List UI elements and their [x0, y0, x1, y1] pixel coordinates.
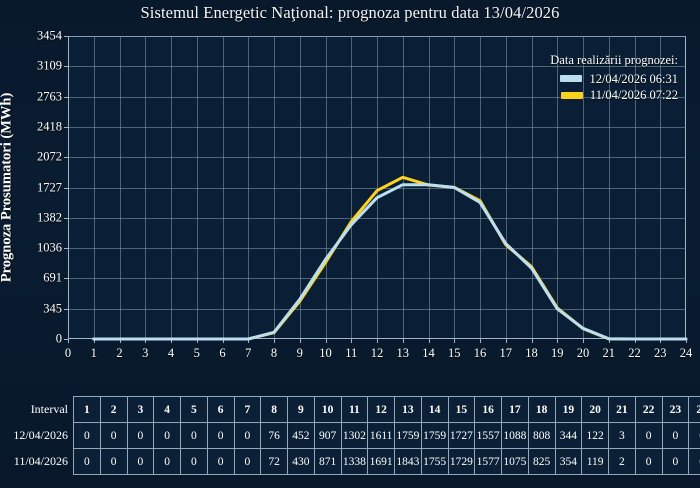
table-cell: 1729	[448, 449, 475, 475]
y-axis-title-text: Prognoza Prosumatori (MWh)	[0, 93, 16, 283]
table-header-cell: 12	[368, 397, 395, 423]
table-cell: 0	[689, 423, 700, 449]
table-header-cell: 4	[154, 397, 181, 423]
table-cell: 1759	[421, 423, 448, 449]
table-cell: 1759	[395, 423, 422, 449]
table-cell: 0	[127, 423, 154, 449]
table-cell: 808	[528, 423, 555, 449]
table-cell: 1727	[448, 423, 475, 449]
table-header-cell: 14	[421, 397, 448, 423]
table-header-cell: 2	[100, 397, 127, 423]
table-cell: 122	[582, 423, 609, 449]
x-axis-tick-label: 11	[345, 346, 357, 361]
legend-entry-label: 11/04/2026 07:22	[590, 87, 678, 104]
table-cell: 0	[181, 423, 208, 449]
legend-entry[interactable]: 12/04/2026 06:31	[550, 71, 678, 88]
table-cell: 0	[181, 449, 208, 475]
table-cell: 0	[635, 423, 662, 449]
x-axis-tick-label: 1	[91, 346, 97, 361]
table-cell: 1577	[475, 449, 502, 475]
table-cell: 1843	[395, 449, 422, 475]
x-axis-tick-label: 13	[397, 346, 410, 361]
table-header-cell: 3	[127, 397, 154, 423]
table-row-label-forecast-b: 11/04/2026	[0, 449, 74, 475]
table-cell: 1557	[475, 423, 502, 449]
legend-swatch-blue	[560, 75, 582, 82]
table-cell: 3	[609, 423, 636, 449]
x-axis-tick-label: 15	[448, 346, 461, 361]
table-header-cell: 1	[74, 397, 101, 423]
page-title: Sistemul Energetic Naţional: prognoza pe…	[0, 3, 700, 23]
x-axis-tick-label: 3	[142, 346, 148, 361]
x-axis-tick-label: 24	[680, 346, 693, 361]
table-header-cell: 9	[288, 397, 315, 423]
x-axis-tick-label: 14	[422, 346, 435, 361]
table-cell: 0	[100, 449, 127, 475]
x-axis-tick-label: 8	[271, 346, 277, 361]
table-row: Interval12345678910111213141516171819202…	[0, 397, 700, 423]
x-axis-tick-label: 18	[525, 346, 538, 361]
table-header-cell: 10	[314, 397, 341, 423]
table-cell: 907	[314, 423, 341, 449]
table-header-cell: 7	[234, 397, 261, 423]
x-axis-tick-label: 19	[551, 346, 564, 361]
table-row-label-interval: Interval	[0, 397, 74, 423]
table-cell: 344	[555, 423, 582, 449]
y-axis-title: Prognoza Prosumatori (MWh)	[0, 36, 17, 339]
table-header-cell: 5	[181, 397, 208, 423]
table-cell: 452	[288, 423, 315, 449]
legend-swatch-yellow	[561, 92, 583, 99]
table-cell: 1088	[502, 423, 529, 449]
table-cell: 1302	[341, 423, 368, 449]
table-header-cell: 8	[261, 397, 288, 423]
table-header-cell: 13	[395, 397, 422, 423]
table-cell: 0	[74, 423, 101, 449]
table-row: 11/04/2026000000072430871133816911843175…	[0, 449, 700, 475]
table-cell: 0	[154, 449, 181, 475]
table-cell: 119	[582, 449, 609, 475]
table-cell: 0	[100, 423, 127, 449]
table-header-cell: 11	[341, 397, 368, 423]
legend-entry-label: 12/04/2026 06:31	[589, 71, 678, 88]
x-axis-tick-label: 20	[577, 346, 590, 361]
x-axis-tick-label: 16	[474, 346, 487, 361]
x-axis-tick-label: 7	[245, 346, 251, 361]
table-header-cell: 18	[528, 397, 555, 423]
x-axis-tick-label: 22	[628, 346, 641, 361]
table-cell: 1338	[341, 449, 368, 475]
table-cell: 0	[234, 423, 261, 449]
plot-area: 034569110361382172720722418276331093454 …	[68, 36, 686, 339]
x-axis-tick-label: 9	[297, 346, 303, 361]
table-header-cell: 22	[635, 397, 662, 423]
table-cell: 0	[207, 449, 234, 475]
forecast-data-table: Interval12345678910111213141516171819202…	[0, 396, 700, 475]
table-header-cell: 23	[662, 397, 689, 423]
table-header-cell: 17	[502, 397, 529, 423]
table-header-cell: 20	[582, 397, 609, 423]
x-axis-tick-label: 5	[194, 346, 200, 361]
table-cell: 0	[662, 449, 689, 475]
table-cell: 76	[261, 423, 288, 449]
x-axis-tick-label: 6	[219, 346, 225, 361]
series-line-yellow	[94, 177, 686, 339]
table-cell: 430	[288, 449, 315, 475]
table-cell: 1755	[421, 449, 448, 475]
table-cell: 0	[234, 449, 261, 475]
table-cell: 825	[528, 449, 555, 475]
table-header-cell: 6	[207, 397, 234, 423]
table-row-label-forecast-a: 12/04/2026	[0, 423, 74, 449]
table-header-cell: 21	[609, 397, 636, 423]
table-cell: 871	[314, 449, 341, 475]
table-cell: 0	[154, 423, 181, 449]
x-axis-tick-label: 23	[654, 346, 667, 361]
legend: Data realizării prognozei: 12/04/2026 06…	[550, 52, 678, 104]
table-cell: 0	[689, 449, 700, 475]
table-cell: 0	[127, 449, 154, 475]
table-header-cell: 24	[689, 397, 700, 423]
table-cell: 2	[609, 449, 636, 475]
table-cell: 72	[261, 449, 288, 475]
table-header-cell: 16	[475, 397, 502, 423]
chart-page: Sistemul Energetic Naţional: prognoza pe…	[0, 0, 700, 488]
legend-entry[interactable]: 11/04/2026 07:22	[550, 87, 678, 104]
x-axis-tick-label: 2	[116, 346, 122, 361]
legend-title: Data realizării prognozei:	[550, 52, 678, 69]
x-axis-tick-label: 12	[371, 346, 384, 361]
table-cell: 354	[555, 449, 582, 475]
x-axis-tick-label: 21	[603, 346, 616, 361]
table-header-cell: 19	[555, 397, 582, 423]
x-axis-tick-label: 4	[168, 346, 174, 361]
table-cell: 1691	[368, 449, 395, 475]
table-row: 12/04/2026000000076452907130216111759175…	[0, 423, 700, 449]
table-cell: 1611	[368, 423, 395, 449]
x-axis-tick-label: 0	[65, 346, 71, 361]
x-axis-tick-label: 10	[319, 346, 332, 361]
table-cell: 0	[74, 449, 101, 475]
series-line-blue	[94, 185, 686, 339]
table-cell: 1075	[502, 449, 529, 475]
table-cell: 0	[207, 423, 234, 449]
table-cell: 0	[662, 423, 689, 449]
table-header-cell: 15	[448, 397, 475, 423]
x-axis-tick-label: 17	[500, 346, 513, 361]
table-cell: 0	[635, 449, 662, 475]
